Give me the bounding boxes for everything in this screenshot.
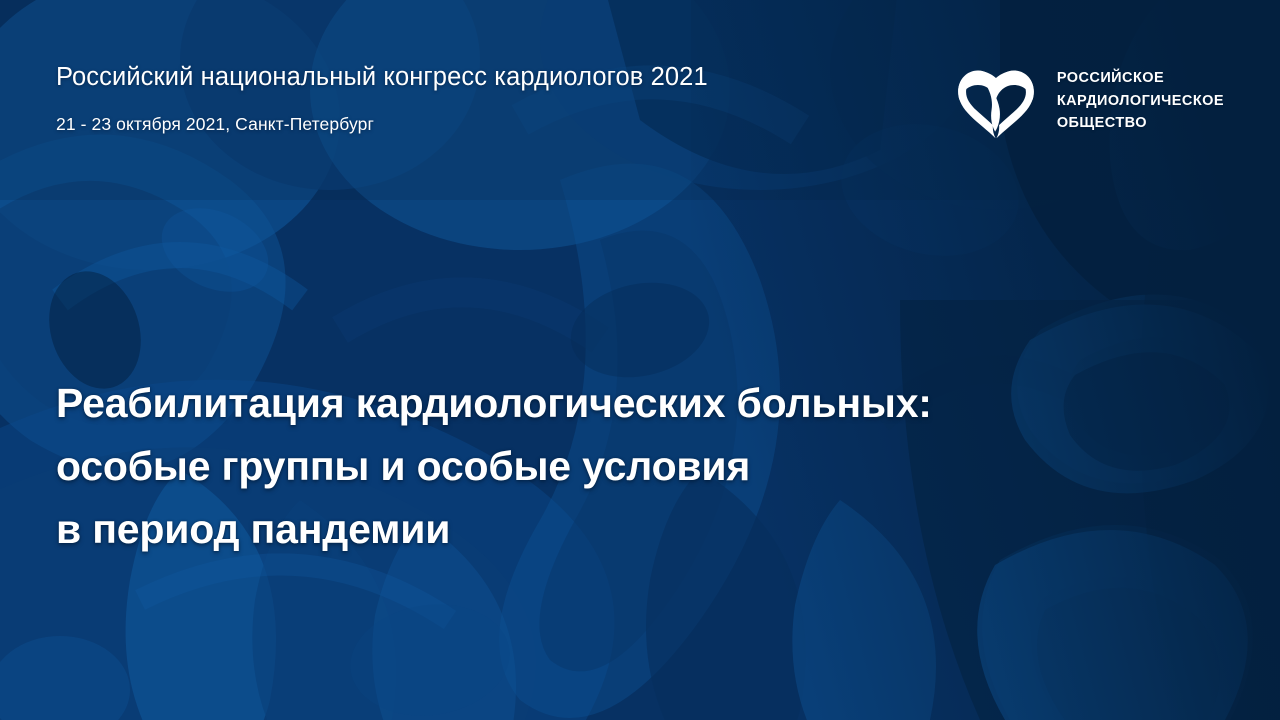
title-line-1: Реабилитация кардиологических больных: <box>56 372 1056 435</box>
logo-line-3: ОБЩЕСТВО <box>1057 113 1224 134</box>
congress-dates: 21 - 23 октября 2021, Санкт-Петербург <box>56 114 374 135</box>
congress-title: Российский национальный конгресс кардиол… <box>56 63 708 92</box>
presentation-title: Реабилитация кардиологических больных: о… <box>56 372 1056 561</box>
organization-logo: РОССИЙСКОЕ КАРДИОЛОГИЧЕСКОЕ ОБЩЕСТВО <box>952 56 1224 144</box>
heart-ribbon-logo-icon <box>952 56 1040 144</box>
logo-line-2: КАРДИОЛОГИЧЕСКОЕ <box>1057 91 1224 112</box>
logo-line-1: РОССИЙСКОЕ <box>1057 68 1224 89</box>
title-line-3: в период пандемии <box>56 498 1056 561</box>
title-line-2: особые группы и особые условия <box>56 435 1056 498</box>
logo-text: РОССИЙСКОЕ КАРДИОЛОГИЧЕСКОЕ ОБЩЕСТВО <box>1057 66 1224 135</box>
title-slide: Российский национальный конгресс кардиол… <box>0 0 1280 720</box>
